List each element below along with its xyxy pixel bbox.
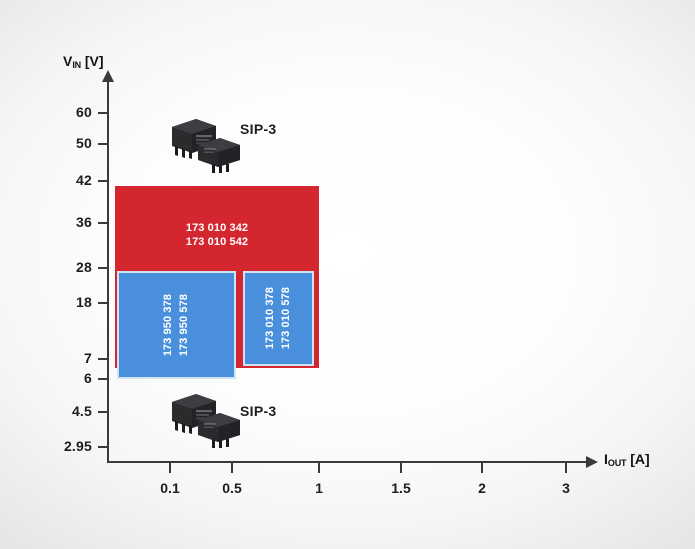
y-tick-label: 7 (32, 350, 92, 366)
y-tick-label-wrap: 7 (30, 350, 92, 366)
x-tick-label: 3 (536, 480, 596, 496)
y-tick-mark (98, 180, 108, 182)
y-tick-mark (98, 267, 108, 269)
y-tick-label-wrap: 28 (30, 259, 92, 275)
x-tick-mark (400, 463, 402, 473)
y-tick-label-wrap: 42 (30, 172, 92, 188)
y-tick-mark (98, 222, 108, 224)
x-tick-label: 2 (452, 480, 512, 496)
y-tick-label: 60 (32, 104, 92, 120)
x-axis-arrow-icon (586, 456, 598, 468)
y-tick-label-wrap: 6 (30, 370, 92, 386)
sip3-module-image-top (168, 115, 248, 173)
y-tick-label-wrap: 18 (30, 294, 92, 310)
sip3-callout-label-bottom: SIP-3 (240, 403, 277, 419)
y-tick-label-wrap: 36 (30, 214, 92, 230)
x-tick-mark (481, 463, 483, 473)
sip3-module-front (198, 413, 240, 448)
chart-canvas: VIN [V] IOUT [A] 60 50 42 36 28 18 (0, 0, 695, 549)
y-tick-mark (98, 112, 108, 114)
y-tick-label: 36 (32, 214, 92, 230)
x-tick-mark (318, 463, 320, 473)
x-axis-line (107, 461, 590, 463)
y-axis-title: VIN [V] (63, 53, 104, 69)
region-blue-right-label: 173 010 378 173 010 578 (245, 273, 312, 364)
y-axis-title-unit: [V] (85, 53, 104, 69)
x-axis-title: IOUT [A] (604, 451, 650, 467)
sip3-callout-label-top: SIP-3 (240, 121, 277, 137)
region-blue-173-950-378[interactable]: 173 950 378 173 950 578 (117, 271, 236, 379)
region-blue-right-label-line1: 173 010 378 (264, 287, 278, 349)
x-tick-mark (565, 463, 567, 473)
y-tick-label: 50 (32, 135, 92, 151)
y-tick-mark (98, 411, 108, 413)
y-tick-label: 18 (32, 294, 92, 310)
sip3-module-front (198, 138, 240, 173)
y-tick-label: 28 (32, 259, 92, 275)
x-tick-label: 1 (289, 480, 349, 496)
y-tick-mark (98, 446, 108, 448)
region-blue-left-label: 173 950 378 173 950 578 (119, 273, 234, 377)
x-tick-label: 0.1 (140, 480, 200, 496)
region-blue-173-010-378[interactable]: 173 010 378 173 010 578 (243, 271, 314, 366)
y-tick-label: 4.5 (32, 403, 92, 419)
x-tick-label: 1.5 (371, 480, 431, 496)
x-tick-mark (169, 463, 171, 473)
region-blue-left-label-line2: 173 950 578 (178, 294, 192, 356)
sip3-module-svg-top (168, 115, 248, 173)
y-tick-mark (98, 143, 108, 145)
y-tick-label-wrap: 60 (30, 104, 92, 120)
y-axis-arrow-icon (102, 70, 114, 82)
y-tick-mark (98, 358, 108, 360)
y-tick-label-wrap: 50 (30, 135, 92, 151)
x-axis-title-sub: OUT (608, 458, 626, 468)
y-tick-mark (98, 302, 108, 304)
y-tick-label: 6 (32, 370, 92, 386)
sip3-module-image-bottom (168, 390, 248, 448)
x-tick-mark (231, 463, 233, 473)
x-tick-label: 0.5 (202, 480, 262, 496)
y-axis-title-main: V (63, 53, 72, 69)
region-blue-right-label-line2: 173 010 578 (280, 287, 294, 349)
region-red-label-line2: 173 010 542 (186, 236, 248, 250)
region-blue-left-label-line1: 173 950 378 (162, 294, 176, 356)
y-tick-label: 42 (32, 172, 92, 188)
sip3-module-svg-bottom (168, 390, 248, 448)
y-axis-title-sub: IN (72, 60, 81, 70)
y-tick-label-wrap: 2.95 (30, 438, 92, 454)
y-tick-label: 2.95 (32, 438, 92, 454)
x-axis-title-unit: [A] (630, 451, 649, 467)
region-red-label-line1: 173 010 342 (186, 222, 248, 236)
y-tick-label-wrap: 4.5 (30, 403, 92, 419)
y-axis-line (107, 80, 109, 463)
y-tick-mark (98, 378, 108, 380)
